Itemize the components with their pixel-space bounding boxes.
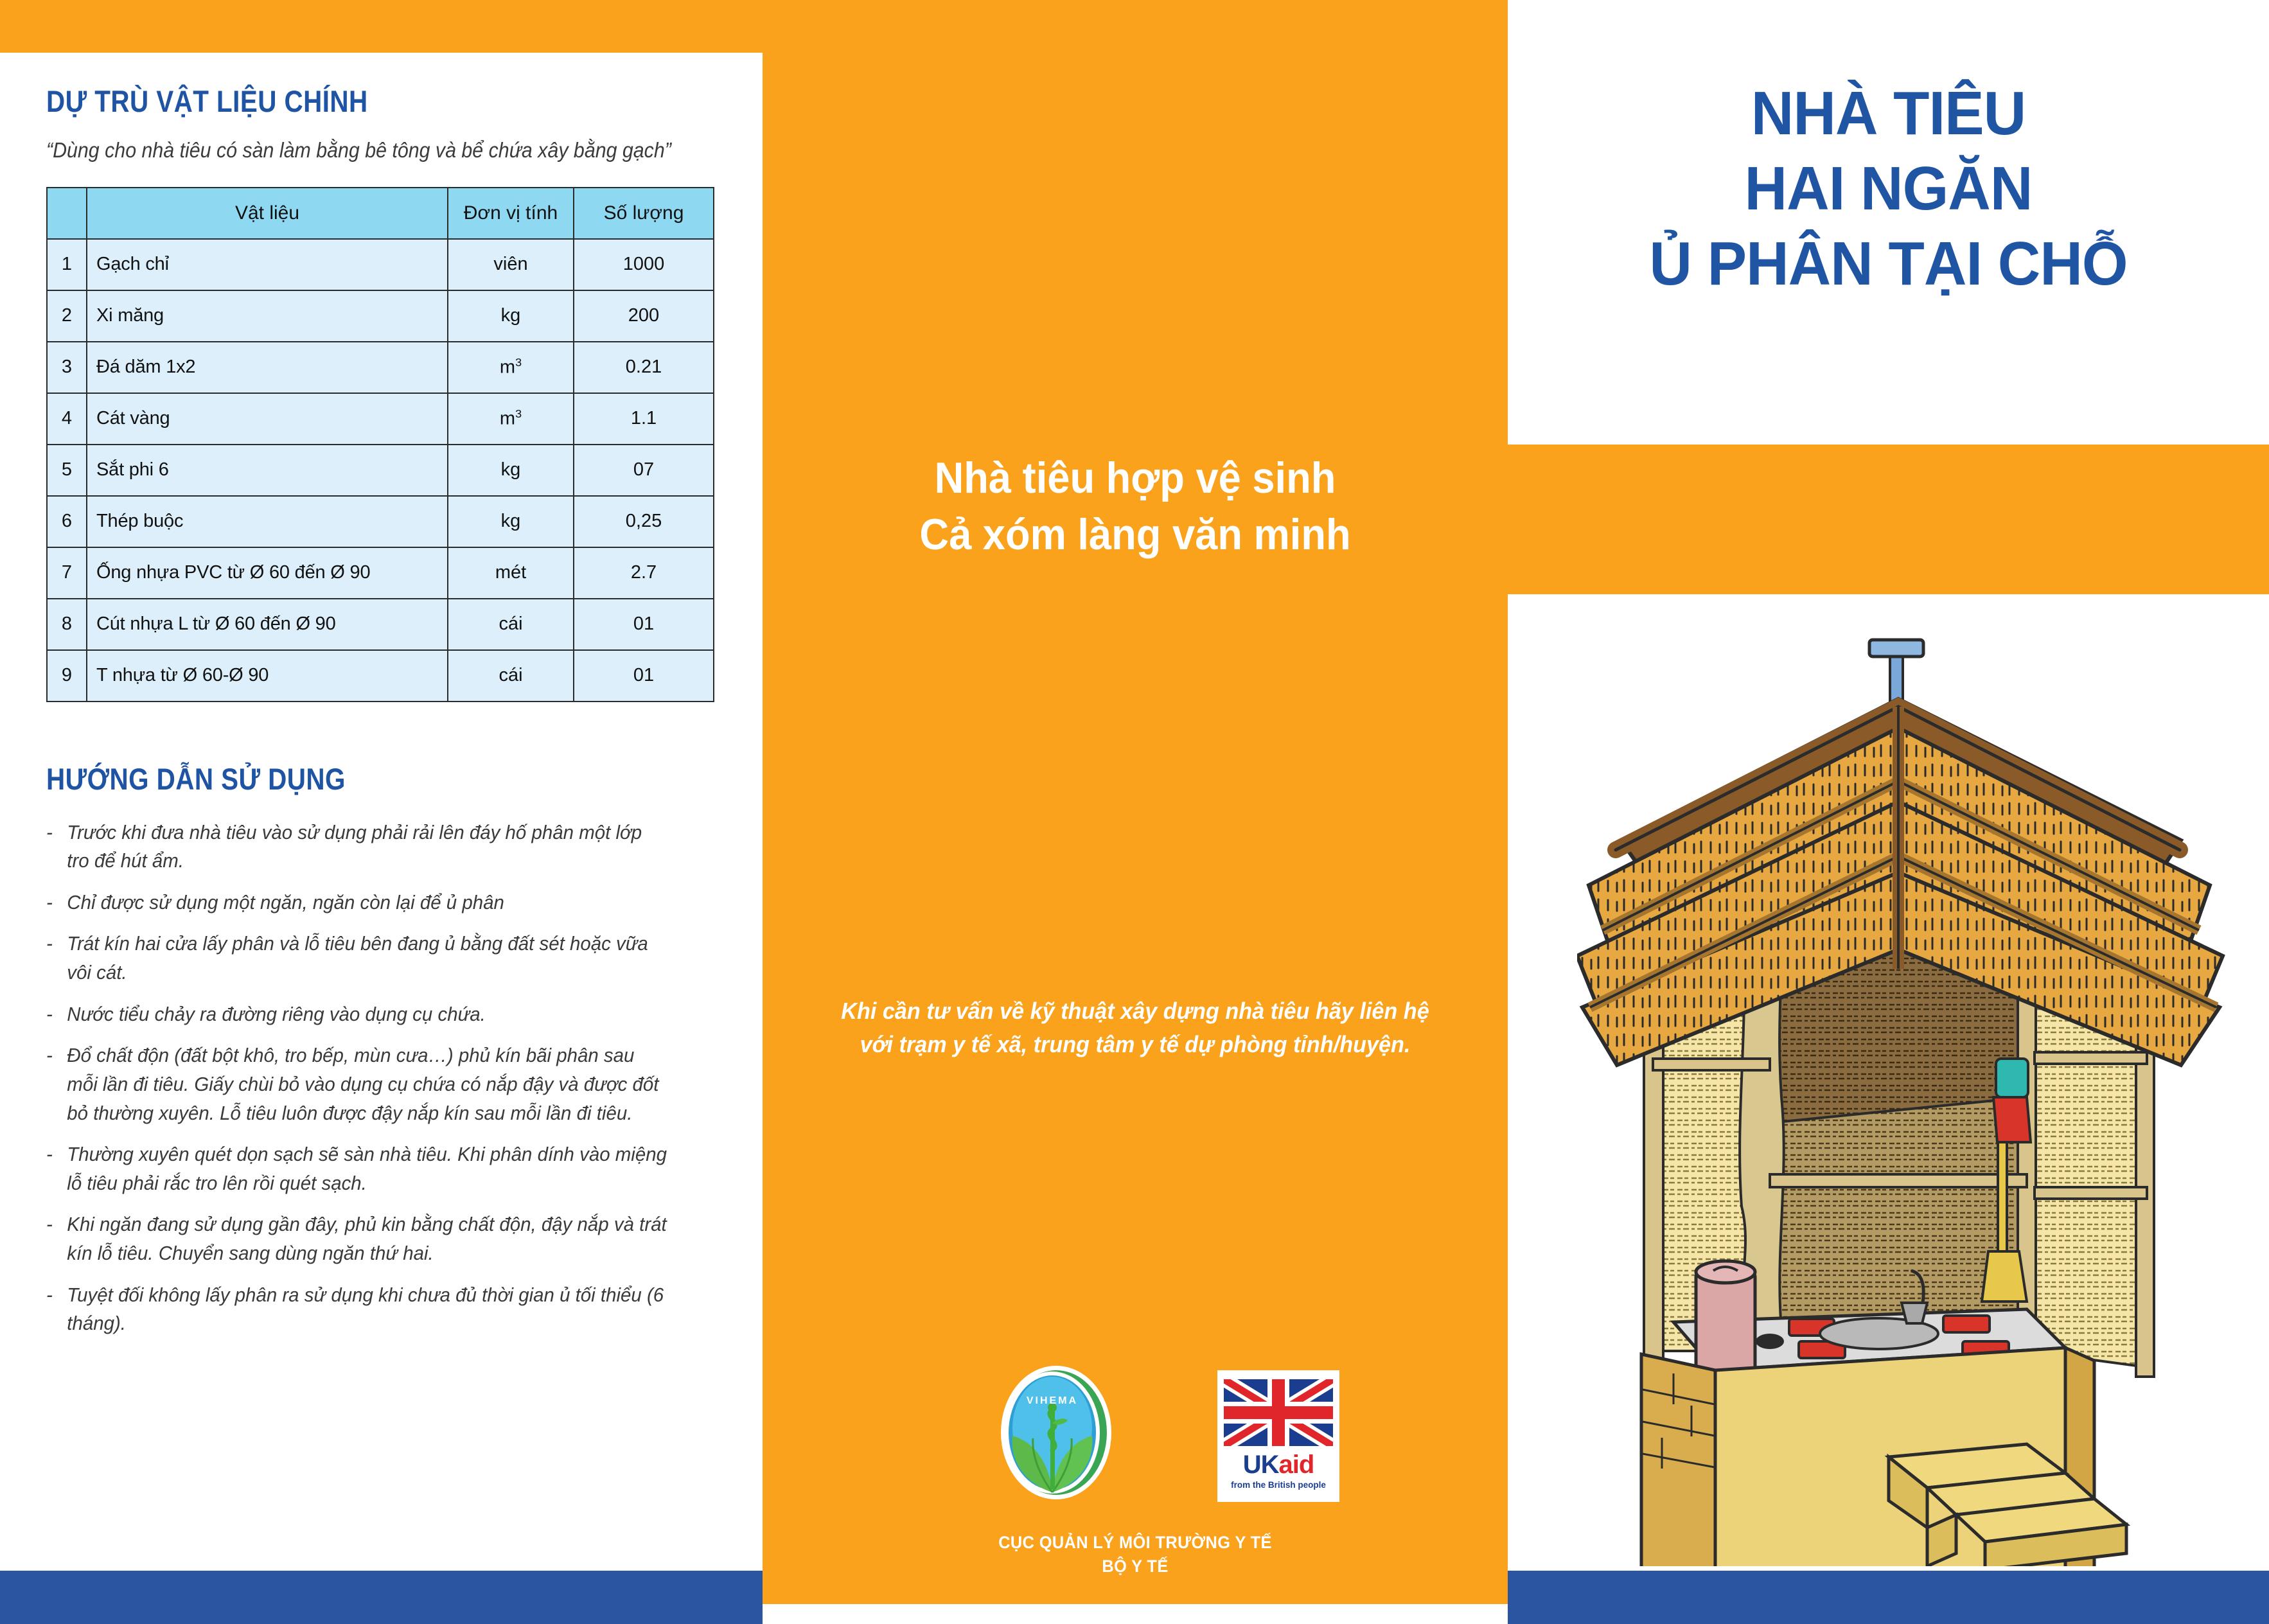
usage-item: -Chỉ được sử dụng một ngăn, ngăn còn lại…	[46, 888, 669, 917]
cell-material: Sắt phi 6	[87, 445, 448, 496]
cell-unit: cái	[448, 650, 574, 702]
ukaid-aid-text: aid	[1278, 1451, 1314, 1479]
brochure-page: DỰ TRÙ VẬT LIỆU CHÍNH “Dùng cho nhà tiêu…	[0, 0, 2269, 1624]
title-line-3: Ủ PHÂN TẠI CHỖ	[1523, 226, 2254, 301]
usage-item-text: Trước khi đưa nhà tiêu vào sử dụng phải …	[67, 821, 642, 872]
org-line-1: CỤC QUẢN LÝ MÔI TRƯỜNG Y TẾ	[785, 1531, 1485, 1555]
usage-instructions-list: -Trước khi đưa nhà tiêu vào sử dụng phải…	[46, 818, 702, 1338]
cell-material: Cút nhựa L từ Ø 60 đến Ø 90	[87, 599, 448, 650]
col-header-material: Vật liệu	[87, 188, 448, 239]
materials-table-body: 1Gạch chỉviên10002Xi măngkg2003Đá dăm 1x…	[47, 239, 714, 702]
cell-quantity: 1000	[574, 239, 714, 290]
bullet-dash: -	[46, 818, 53, 847]
cell-unit: m3	[448, 393, 574, 445]
bullet-dash: -	[46, 888, 53, 917]
cell-unit: kg	[448, 496, 574, 547]
slogan-line-2: Cả xóm làng văn minh	[789, 506, 1482, 563]
cell-unit: cái	[448, 599, 574, 650]
vihema-logo: VIHEMA	[998, 1364, 1114, 1502]
bullet-dash: -	[46, 1041, 53, 1070]
advice-block: Khi cần tư vấn về kỹ thuật xây dựng nhà …	[824, 994, 1447, 1061]
table-row: 8Cút nhựa L từ Ø 60 đến Ø 90cái01	[47, 599, 714, 650]
cell-unit: kg	[448, 290, 574, 342]
cell-material: Đá dăm 1x2	[87, 342, 448, 393]
cell-quantity: 2.7	[574, 547, 714, 599]
cell-index: 2	[47, 290, 87, 342]
unit-superscript: 3	[515, 407, 522, 420]
slogan-block: Nhà tiêu hợp vệ sinh Cả xóm làng văn min…	[789, 450, 1482, 563]
org-line-2: BỘ Y TẾ	[785, 1555, 1485, 1578]
cell-unit: mét	[448, 547, 574, 599]
usage-item: -Trát kín hai cửa lấy phân và lỗ tiêu bê…	[46, 930, 669, 987]
title-line-1: NHÀ TIÊU	[1523, 76, 2254, 151]
usage-item: -Tuyệt đối không lấy phân ra sử dụng khi…	[46, 1281, 669, 1338]
table-row: 4Cát vàngm31.1	[47, 393, 714, 445]
cell-unit: m3	[448, 342, 574, 393]
usage-item: -Đổ chất độn (đất bột khô, tro bếp, mùn …	[46, 1041, 669, 1127]
ukaid-uk-text: UK	[1243, 1451, 1279, 1479]
right-orange-band	[1508, 445, 2269, 594]
right-panel: NHÀ TIÊU HAI NGĂN Ủ PHÂN TẠI CHỖ	[1508, 0, 2269, 1624]
vihema-emblem-icon: VIHEMA	[998, 1364, 1114, 1502]
usage-item-text: Nước tiểu chảy ra đường riêng vào dụng c…	[67, 1003, 486, 1025]
bullet-dash: -	[46, 930, 53, 958]
table-row: 5Sắt phi 6kg07	[47, 445, 714, 496]
latrine-illustration	[1577, 609, 2226, 1566]
cell-quantity: 0.21	[574, 342, 714, 393]
table-row: 7Ống nhựa PVC từ Ø 60 đến Ø 90mét2.7	[47, 547, 714, 599]
bullet-dash: -	[46, 1281, 53, 1310]
left-bottom-blue-bar	[0, 1571, 763, 1624]
center-panel: Nhà tiêu hợp vệ sinh Cả xóm làng văn min…	[763, 0, 1508, 1604]
union-jack-icon	[1224, 1379, 1333, 1446]
cell-index: 9	[47, 650, 87, 702]
logo-row: VIHEMA UKaid from the British people	[763, 1352, 1508, 1513]
col-header-index	[47, 188, 87, 239]
usage-item-text: Thường xuyên quét dọn sạch sẽ sàn nhà ti…	[67, 1143, 667, 1194]
materials-subtitle: “Dùng cho nhà tiêu có sàn làm bằng bê tô…	[46, 136, 741, 165]
right-bottom-blue-bar	[1508, 1571, 2269, 1624]
advice-line-2: với trạm y tế xã, trung tâm y tế dự phòn…	[824, 1028, 1447, 1061]
usage-item: -Trước khi đưa nhà tiêu vào sử dụng phải…	[46, 818, 669, 876]
cell-material: Ống nhựa PVC từ Ø 60 đến Ø 90	[87, 547, 448, 599]
cell-index: 3	[47, 342, 87, 393]
usage-item-text: Tuyệt đối không lấy phân ra sử dụng khi …	[67, 1284, 664, 1335]
col-header-unit: Đơn vị tính	[448, 188, 574, 239]
table-header-row: Vật liệu Đơn vị tính Số lượng	[47, 188, 714, 239]
ukaid-logo: UKaid from the British people	[1217, 1370, 1339, 1502]
page-title: NHÀ TIÊU HAI NGĂN Ủ PHÂN TẠI CHỖ	[1523, 76, 2254, 301]
vihema-wordmark: VIHEMA	[1027, 1395, 1078, 1406]
left-panel-content: DỰ TRÙ VẬT LIỆU CHÍNH “Dùng cho nhà tiêu…	[46, 84, 714, 1351]
unit-superscript: 3	[515, 356, 522, 369]
cell-quantity: 01	[574, 599, 714, 650]
left-top-orange-stripe	[0, 0, 763, 53]
table-row: 2Xi măngkg200	[47, 290, 714, 342]
cell-material: Cát vàng	[87, 393, 448, 445]
cell-index: 6	[47, 496, 87, 547]
ukaid-wordmark: UKaid	[1224, 1452, 1333, 1478]
usage-item: -Thường xuyên quét dọn sạch sẽ sàn nhà t…	[46, 1140, 669, 1197]
organization-caption: CỤC QUẢN LÝ MÔI TRƯỜNG Y TẾ BỘ Y TẾ	[785, 1531, 1485, 1578]
cell-index: 1	[47, 239, 87, 290]
cell-quantity: 0,25	[574, 496, 714, 547]
slogan-line-1: Nhà tiêu hợp vệ sinh	[789, 450, 1482, 506]
cell-material: Xi măng	[87, 290, 448, 342]
table-row: 1Gạch chỉviên1000	[47, 239, 714, 290]
table-row: 9T nhựa từ Ø 60-Ø 90cái01	[47, 650, 714, 702]
materials-heading: DỰ TRÙ VẬT LIỆU CHÍNH	[46, 84, 621, 119]
advice-line-1: Khi cần tư vấn về kỹ thuật xây dựng nhà …	[824, 994, 1447, 1028]
usage-item-text: Đổ chất độn (đất bột khô, tro bếp, mùn c…	[67, 1044, 658, 1124]
table-row: 6Thép buộckg0,25	[47, 496, 714, 547]
usage-item-text: Trát kín hai cửa lấy phân và lỗ tiêu bên…	[67, 932, 648, 984]
col-header-quantity: Số lượng	[574, 188, 714, 239]
usage-item: -Khi ngăn đang sử dụng gần đây, phủ kin …	[46, 1210, 669, 1267]
table-row: 3Đá dăm 1x2m30.21	[47, 342, 714, 393]
cell-index: 8	[47, 599, 87, 650]
materials-table-head: Vật liệu Đơn vị tính Số lượng	[47, 188, 714, 239]
cell-unit: kg	[448, 445, 574, 496]
materials-table: Vật liệu Đơn vị tính Số lượng 1Gạch chỉv…	[46, 187, 714, 702]
usage-item-text: Chỉ được sử dụng một ngăn, ngăn còn lại …	[67, 891, 504, 913]
cell-material: T nhựa từ Ø 60-Ø 90	[87, 650, 448, 702]
cell-unit: viên	[448, 239, 574, 290]
bullet-dash: -	[46, 1000, 53, 1029]
left-panel: DỰ TRÙ VẬT LIỆU CHÍNH “Dùng cho nhà tiêu…	[0, 0, 763, 1624]
cell-material: Thép buộc	[87, 496, 448, 547]
two-chamber-latrine-drawing-icon	[1577, 609, 2226, 1566]
cell-quantity: 200	[574, 290, 714, 342]
cell-index: 7	[47, 547, 87, 599]
title-line-2: HAI NGĂN	[1523, 151, 2254, 226]
usage-heading: HƯỚNG DẪN SỬ DỤNG	[46, 761, 621, 797]
bullet-dash: -	[46, 1210, 53, 1239]
cell-index: 4	[47, 393, 87, 445]
usage-item-text: Khi ngăn đang sử dụng gần đây, phủ kin b…	[67, 1213, 666, 1264]
cell-index: 5	[47, 445, 87, 496]
cell-quantity: 07	[574, 445, 714, 496]
ukaid-tagline: from the British people	[1224, 1480, 1333, 1490]
bullet-dash: -	[46, 1140, 53, 1169]
usage-item: -Nước tiểu chảy ra đường riêng vào dụng …	[46, 1000, 669, 1029]
cell-quantity: 01	[574, 650, 714, 702]
cell-material: Gạch chỉ	[87, 239, 448, 290]
cell-quantity: 1.1	[574, 393, 714, 445]
